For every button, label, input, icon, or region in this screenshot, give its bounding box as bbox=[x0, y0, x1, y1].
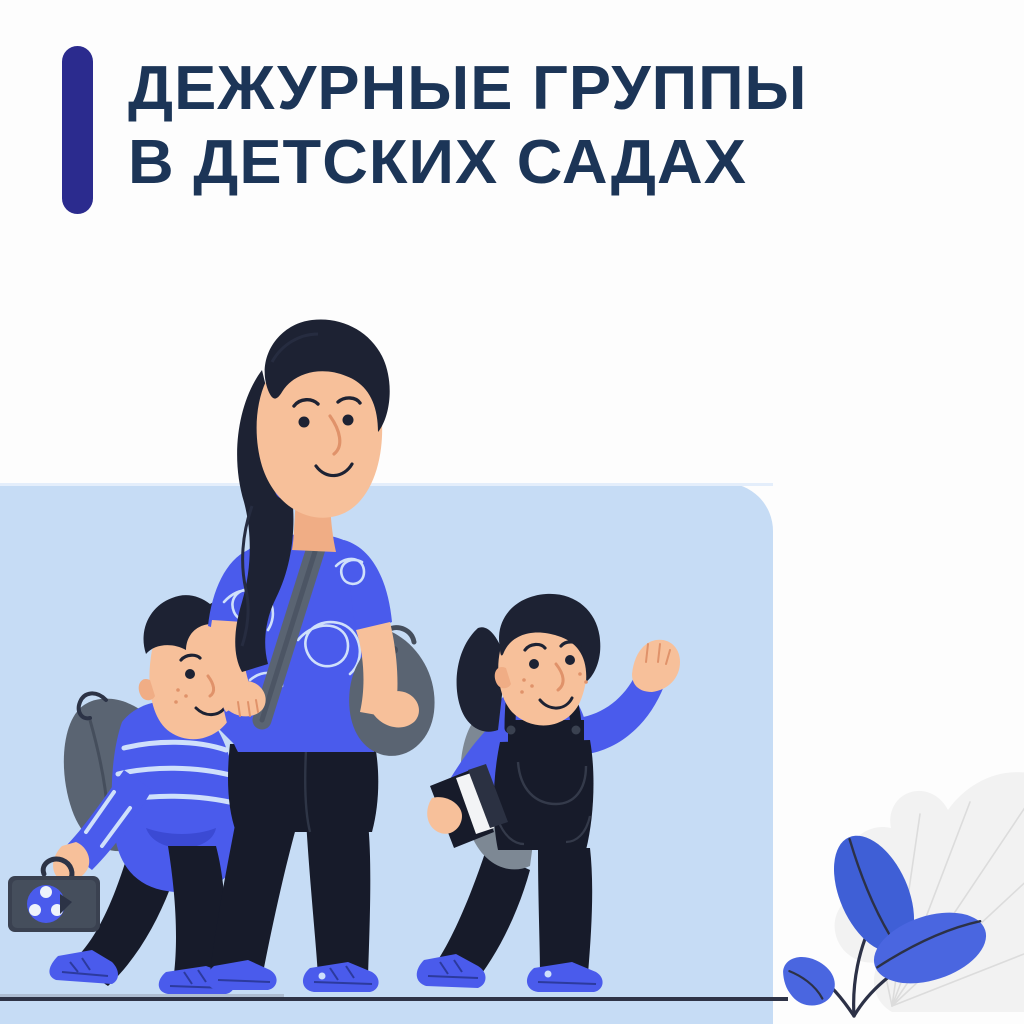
illustration-figures bbox=[0, 250, 790, 1010]
header: ДЕЖУРНЫЕ ГРУППЫ В ДЕТСКИХ САДАХ bbox=[0, 0, 1024, 240]
title-line-2: В ДЕТСКИХ САДАХ bbox=[128, 126, 944, 200]
page-title: ДЕЖУРНЫЕ ГРУППЫ В ДЕТСКИХ САДАХ bbox=[128, 52, 928, 200]
figure-girl bbox=[417, 594, 680, 992]
poster-root: ДЕЖУРНЫЕ ГРУППЫ В ДЕТСКИХ САДАХ bbox=[0, 0, 1024, 1024]
accent-bar bbox=[62, 46, 93, 214]
title-line-1: ДЕЖУРНЫЕ ГРУППЫ bbox=[128, 52, 944, 126]
figure-mother bbox=[207, 319, 435, 992]
blue-leaf-decoration-icon bbox=[764, 798, 1014, 1018]
